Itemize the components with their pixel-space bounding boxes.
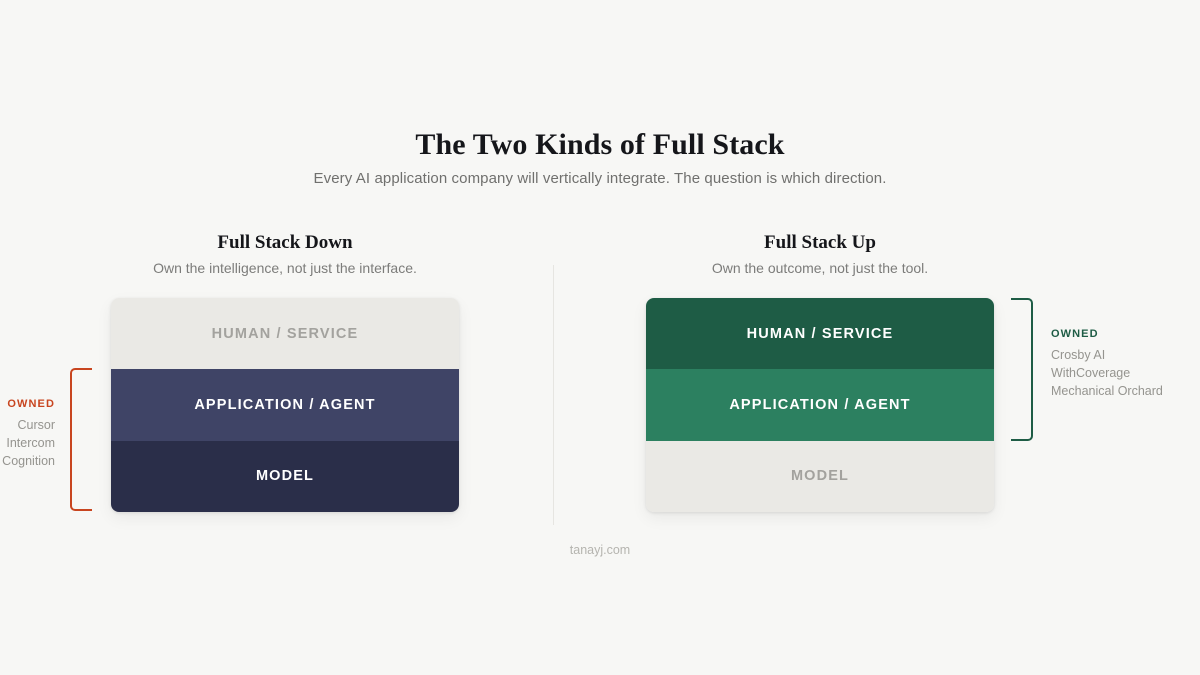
right-layer-model: MODEL <box>646 441 994 512</box>
left-column-title: Full Stack Down <box>75 232 495 254</box>
source-attribution: tanayj.com <box>0 543 1200 557</box>
left-layer-model: MODEL <box>111 441 459 512</box>
right-owned-bracket-icon <box>1011 298 1033 441</box>
right-layer-application-agent: APPLICATION / AGENT <box>646 369 994 440</box>
column-divider <box>553 265 554 525</box>
diagram-canvas: The Two Kinds of Full Stack Every AI app… <box>0 0 1200 675</box>
right-column-title: Full Stack Up <box>610 232 1030 254</box>
left-owned-bracket-icon <box>70 368 92 511</box>
left-owned-company: Intercom <box>0 434 55 452</box>
right-layer-application-agent-label: APPLICATION / AGENT <box>729 397 910 413</box>
right-owned-company: WithCoverage <box>1051 364 1196 382</box>
left-layer-application-agent-label: APPLICATION / AGENT <box>194 397 375 413</box>
left-owned-company: Cognition <box>0 452 55 470</box>
left-layer-application-agent: APPLICATION / AGENT <box>111 369 459 440</box>
right-owned-company: Crosby AI <box>1051 346 1196 364</box>
right-stack: HUMAN / SERVICE APPLICATION / AGENT MODE… <box>646 298 994 512</box>
left-stack: HUMAN / SERVICE APPLICATION / AGENT MODE… <box>111 298 459 512</box>
left-owned-company: Cursor <box>0 416 55 434</box>
left-layer-model-label: MODEL <box>256 468 314 484</box>
left-layer-human-service: HUMAN / SERVICE <box>111 298 459 369</box>
left-owned-annotation: OWNED Cursor Intercom Cognition <box>0 398 55 470</box>
right-column-subtitle: Own the outcome, not just the tool. <box>590 260 1050 276</box>
left-layer-human-service-label: HUMAN / SERVICE <box>212 326 359 342</box>
left-column-subtitle: Own the intelligence, not just the inter… <box>55 260 515 276</box>
page-subtitle: Every AI application company will vertic… <box>0 170 1200 187</box>
right-owned-label: OWNED <box>1051 328 1196 340</box>
right-layer-human-service-label: HUMAN / SERVICE <box>747 326 894 342</box>
right-owned-annotation: OWNED Crosby AI WithCoverage Mechanical … <box>1051 328 1196 400</box>
right-owned-company: Mechanical Orchard <box>1051 382 1196 400</box>
right-layer-human-service: HUMAN / SERVICE <box>646 298 994 369</box>
page-title: The Two Kinds of Full Stack <box>0 128 1200 162</box>
right-layer-model-label: MODEL <box>791 468 849 484</box>
left-owned-label: OWNED <box>0 398 55 410</box>
